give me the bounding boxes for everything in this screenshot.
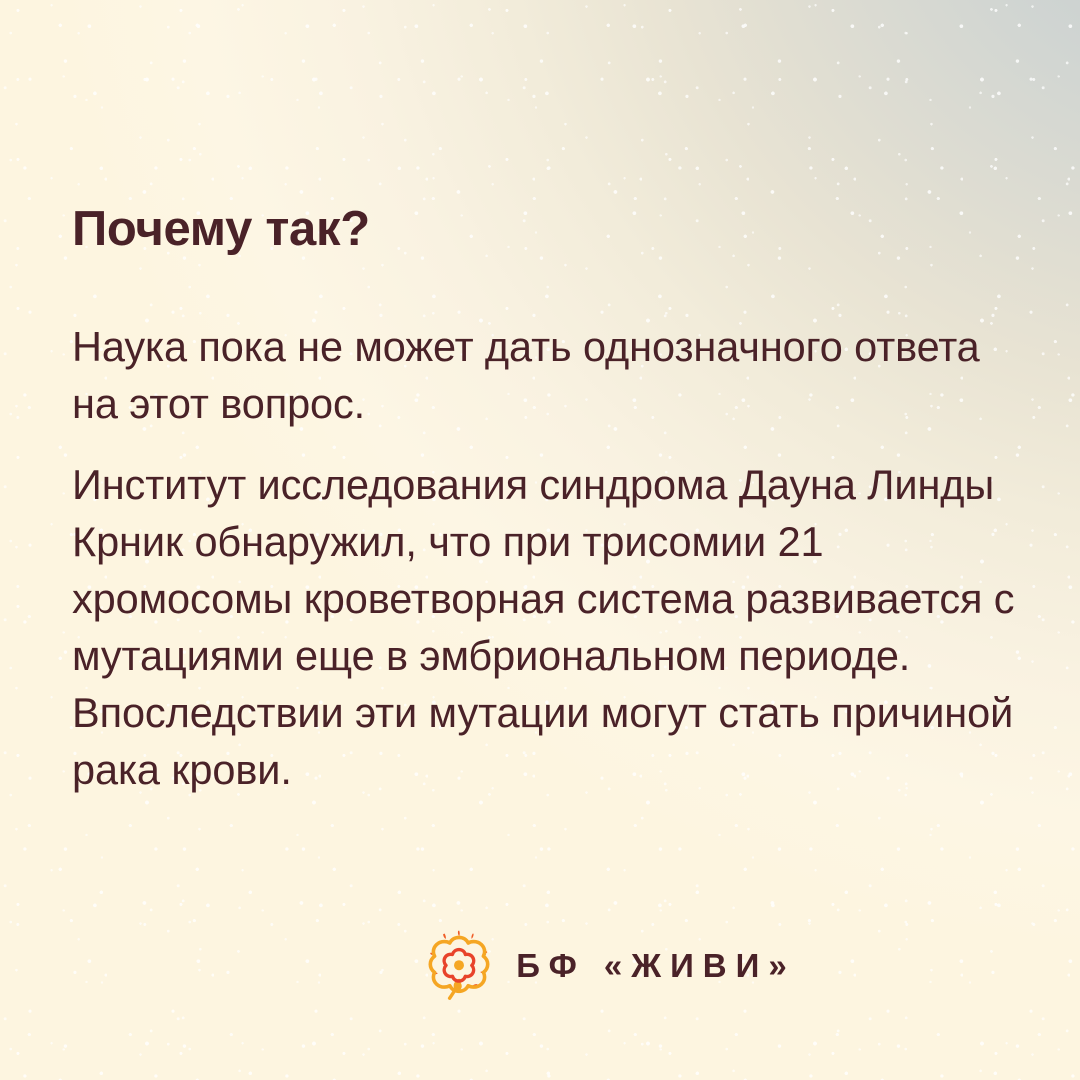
page-title: Почему так? <box>72 203 370 257</box>
body-text-block: Наука пока не может дать однозначного от… <box>72 318 1027 798</box>
slide-content: Почему так? Наука пока не может дать одн… <box>72 0 1032 1080</box>
body-paragraph-1: Наука пока не может дать однозначного от… <box>72 318 1027 432</box>
body-paragraph-2: Институт исследования синдрома Дауна Лин… <box>72 456 1027 798</box>
footer-logo: БФ «ЖИВИ» <box>72 930 1080 1000</box>
slide-canvas: Почему так? Наука пока не может дать одн… <box>0 0 1080 1080</box>
logo-wordmark: БФ «ЖИВИ» <box>514 949 795 982</box>
blossoming-tree-icon <box>428 930 490 1000</box>
